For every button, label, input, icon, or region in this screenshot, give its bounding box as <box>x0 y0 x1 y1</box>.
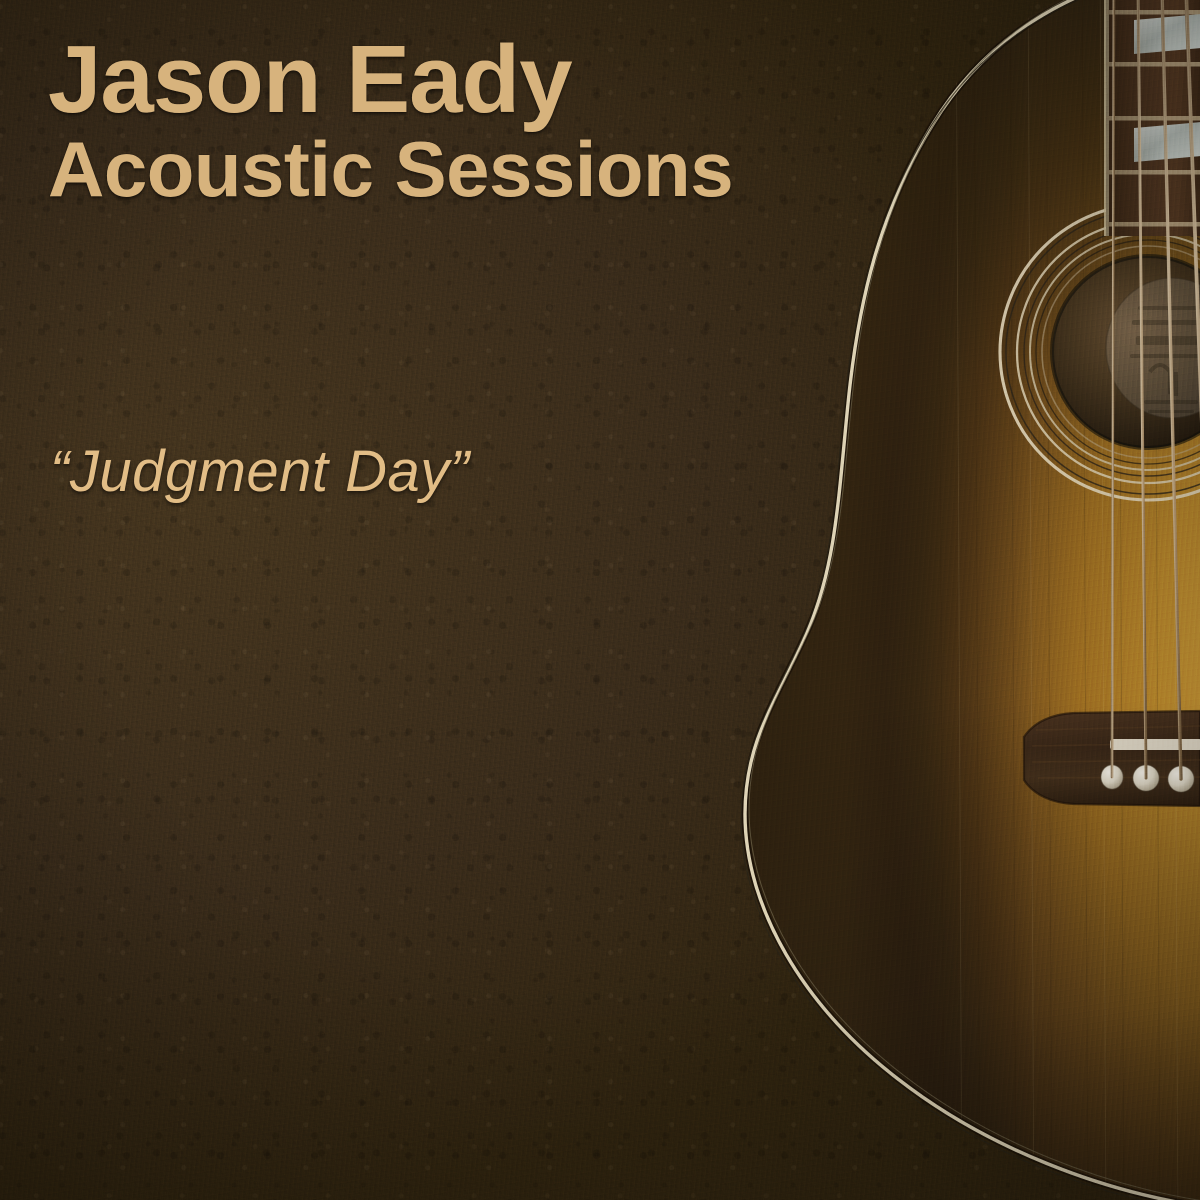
title-block: Jason Eady Acoustic Sessions <box>48 34 733 208</box>
album-subtitle: Acoustic Sessions <box>48 130 733 208</box>
fretboard-group <box>1096 0 1200 236</box>
bridge-pin <box>1101 765 1200 793</box>
album-cover: Jason Eady Acoustic Sessions “Judgment D… <box>0 0 1200 1200</box>
saddle <box>1110 739 1200 750</box>
track-title: “Judgment Day” <box>50 438 470 505</box>
artist-name: Jason Eady <box>48 34 733 126</box>
